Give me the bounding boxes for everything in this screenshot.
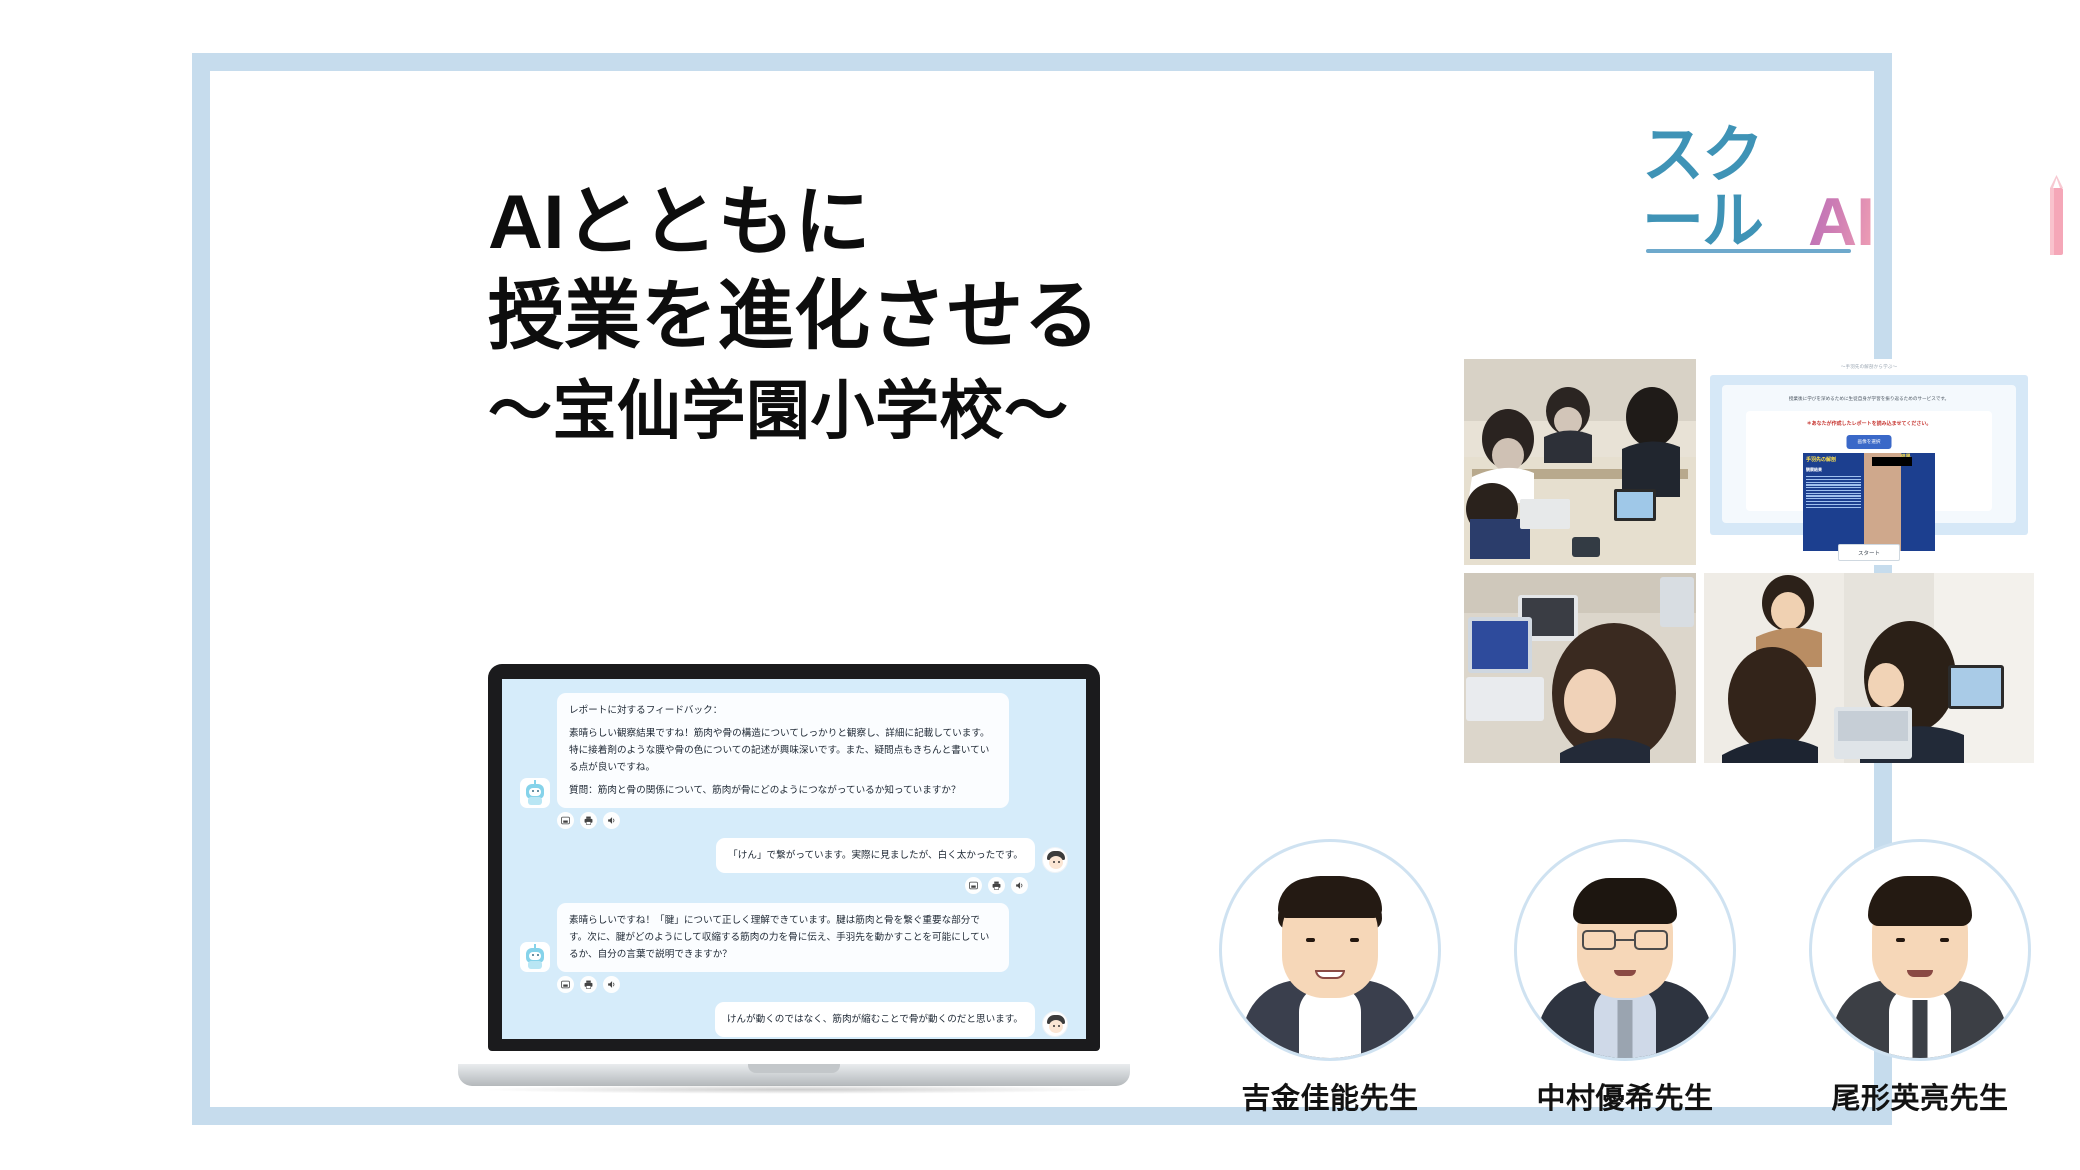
chat-row-bot: 素晴らしいですね！「腱」について正しく理解できています。腱は筋肉と骨を繋ぐ重要な… bbox=[520, 903, 1068, 972]
chat-bubble-bot: レポートに対するフィードバック： 素晴らしい観察結果ですね！筋肉や骨の構造につい… bbox=[557, 693, 1009, 808]
chat-transcript: レポートに対するフィードバック： 素晴らしい観察結果ですね！筋肉や骨の構造につい… bbox=[502, 679, 1086, 1039]
chat-row-user: 「けん」で繋がっています。実際に見ましたが、白く太かったです。 bbox=[520, 838, 1068, 873]
screenshot-caption: 〜手羽先の解剖から学ぶ〜 bbox=[1704, 364, 2034, 370]
print-icon[interactable] bbox=[580, 812, 597, 829]
report-redaction-bar bbox=[1872, 457, 1912, 466]
glasses-icon bbox=[1582, 930, 1668, 950]
message-actions bbox=[557, 812, 1068, 829]
slide-canvas: AIとともに 授業を進化させる 〜宝仙学園小学校〜 スクール AI bbox=[0, 0, 2080, 1170]
save-icon[interactable] bbox=[557, 812, 574, 829]
laptop-shadow bbox=[476, 1085, 1112, 1094]
print-icon[interactable] bbox=[580, 976, 597, 993]
bot-avatar-icon bbox=[520, 942, 550, 972]
speaker-icon[interactable] bbox=[603, 976, 620, 993]
pencil-icon bbox=[2048, 175, 2065, 255]
teacher-name: 尾形英亮先生 bbox=[1800, 1075, 2040, 1117]
bot-avatar-icon bbox=[520, 778, 550, 808]
teacher-card: 吉金佳能先生 bbox=[1210, 839, 1450, 1129]
laptop-mockup: レポートに対するフィードバック： 素晴らしい観察結果ですね！筋肉や骨の構造につい… bbox=[458, 664, 1130, 1104]
user-paragraph: けんが動くのではなく、筋肉が縮むことで骨が動くのだと思います。 bbox=[727, 1011, 1023, 1028]
title-line-1: AIとともに bbox=[488, 177, 1418, 269]
logo-underline bbox=[1646, 249, 1851, 253]
message-actions bbox=[520, 877, 1028, 894]
screenshot-start-button[interactable]: スタート bbox=[1838, 544, 1900, 561]
bot-paragraph: 質問：筋肉と骨の関係について、筋肉が骨にどのようにつながっているか知っていますか… bbox=[569, 782, 997, 799]
report-subtitle: 観察結果 bbox=[1806, 467, 1861, 473]
teacher-portrait-list: 吉金佳能先生 中村優希先生 bbox=[1210, 839, 2040, 1129]
bot-paragraph: 素晴らしいですね！「腱」について正しく理解できています。腱は筋肉と骨を繋ぐ重要な… bbox=[569, 912, 997, 963]
photo-app-screenshot: 〜手羽先の解剖から学ぶ〜 授業後に学びを深めるために生徒自身が学習を振り返るため… bbox=[1704, 359, 2034, 565]
teacher-name: 吉金佳能先生 bbox=[1210, 1075, 1450, 1117]
screenshot-card: 授業後に学びを深めるために生徒自身が学習を振り返るためのサービスです。 ＊あなた… bbox=[1722, 385, 2016, 523]
laptop-notch bbox=[748, 1064, 840, 1073]
title-line-2: 授業を進化させる bbox=[488, 269, 1418, 365]
student-avatar-icon bbox=[1042, 1011, 1068, 1037]
screenshot-lead-text: 授業後に学びを深めるために生徒自身が学習を振り返るためのサービスです。 bbox=[1734, 395, 2004, 402]
avatar bbox=[1514, 839, 1736, 1061]
save-icon[interactable] bbox=[965, 877, 982, 894]
report-text-lines bbox=[1806, 476, 1861, 508]
bot-paragraph: 素晴らしい観察結果ですね！筋肉や骨の構造についてしっかりと観察し、詳細に記載して… bbox=[569, 725, 997, 776]
report-chicken-photo bbox=[1864, 453, 1901, 551]
teacher-name: 中村優希先生 bbox=[1505, 1075, 1745, 1117]
laptop-base bbox=[458, 1064, 1130, 1086]
chat-bubble-user: 「けん」で繋がっています。実際に見ましたが、白く太かったです。 bbox=[716, 838, 1035, 873]
chat-row-bot: レポートに対するフィードバック： 素晴らしい観察結果ですね！筋肉や骨の構造につい… bbox=[520, 693, 1068, 808]
screenshot-required-note: ＊あなたが作成したレポートを読み込ませてください。 bbox=[1746, 420, 1992, 427]
bot-paragraph: レポートに対するフィードバック： bbox=[569, 702, 997, 719]
photo-students-with-tablets bbox=[1464, 359, 1696, 565]
chat-bubble-user: けんが動くのではなく、筋肉が縮むことで骨が動くのだと思います。 bbox=[715, 1002, 1035, 1037]
slide-frame: AIとともに 授業を進化させる 〜宝仙学園小学校〜 スクール AI bbox=[192, 53, 1892, 1125]
logo-japanese-text: スクール bbox=[1642, 123, 1806, 255]
avatar bbox=[1809, 839, 2031, 1061]
laptop-screen: レポートに対するフィードバック： 素晴らしい観察結果ですね！筋肉や骨の構造につい… bbox=[502, 679, 1086, 1039]
report-title: 手羽先の解剖 bbox=[1806, 456, 1861, 463]
screenshot-report-thumbnail: 手羽先の解剖 観察結果 結果 bbox=[1803, 453, 1935, 551]
laptop-lid: レポートに対するフィードバック： 素晴らしい観察結果ですね！筋肉や骨の構造につい… bbox=[488, 664, 1100, 1051]
user-paragraph: 「けん」で繋がっています。実際に見ましたが、白く太かったです。 bbox=[728, 847, 1023, 864]
chat-row-user: けんが動くのではなく、筋肉が縮むことで骨が動くのだと思います。 bbox=[520, 1002, 1068, 1037]
teacher-card: 中村優希先生 bbox=[1505, 839, 1745, 1129]
chat-bubble-bot: 素晴らしいですね！「腱」について正しく理解できています。腱は筋肉と骨を繋ぐ重要な… bbox=[557, 903, 1009, 972]
speaker-icon[interactable] bbox=[1011, 877, 1028, 894]
screenshot-upload-area: ＊あなたが作成したレポートを読み込ませてください。 画像を選択 手羽先の解剖 観… bbox=[1746, 411, 1992, 511]
report-right-column: 結果 bbox=[1901, 453, 1935, 551]
title-line-3: 〜宝仙学園小学校〜 bbox=[488, 365, 1418, 457]
photo-student-with-laptop bbox=[1464, 573, 1696, 763]
teacher-card: 尾形英亮先生 bbox=[1800, 839, 2040, 1129]
save-icon[interactable] bbox=[557, 976, 574, 993]
logo-ai-text: AI bbox=[1808, 189, 1874, 255]
page-title: AIとともに 授業を進化させる 〜宝仙学園小学校〜 bbox=[488, 177, 1418, 457]
print-icon[interactable] bbox=[988, 877, 1005, 894]
photo-collage: 〜手羽先の解剖から学ぶ〜 授業後に学びを深めるために生徒自身が学習を振り返るため… bbox=[1464, 359, 2034, 799]
screenshot-upload-button[interactable]: 画像を選択 bbox=[1847, 435, 1892, 449]
screenshot-body: 授業後に学びを深めるために生徒自身が学習を振り返るためのサービスです。 ＊あなた… bbox=[1710, 375, 2028, 535]
avatar bbox=[1219, 839, 1441, 1061]
school-ai-logo: スクール AI bbox=[1642, 171, 1874, 255]
speaker-icon[interactable] bbox=[603, 812, 620, 829]
photo-classroom-group bbox=[1704, 573, 2034, 763]
app-screenshot: 〜手羽先の解剖から学ぶ〜 授業後に学びを深めるために生徒自身が学習を振り返るため… bbox=[1704, 359, 2034, 565]
student-avatar-icon bbox=[1042, 847, 1068, 873]
message-actions bbox=[557, 976, 1068, 993]
